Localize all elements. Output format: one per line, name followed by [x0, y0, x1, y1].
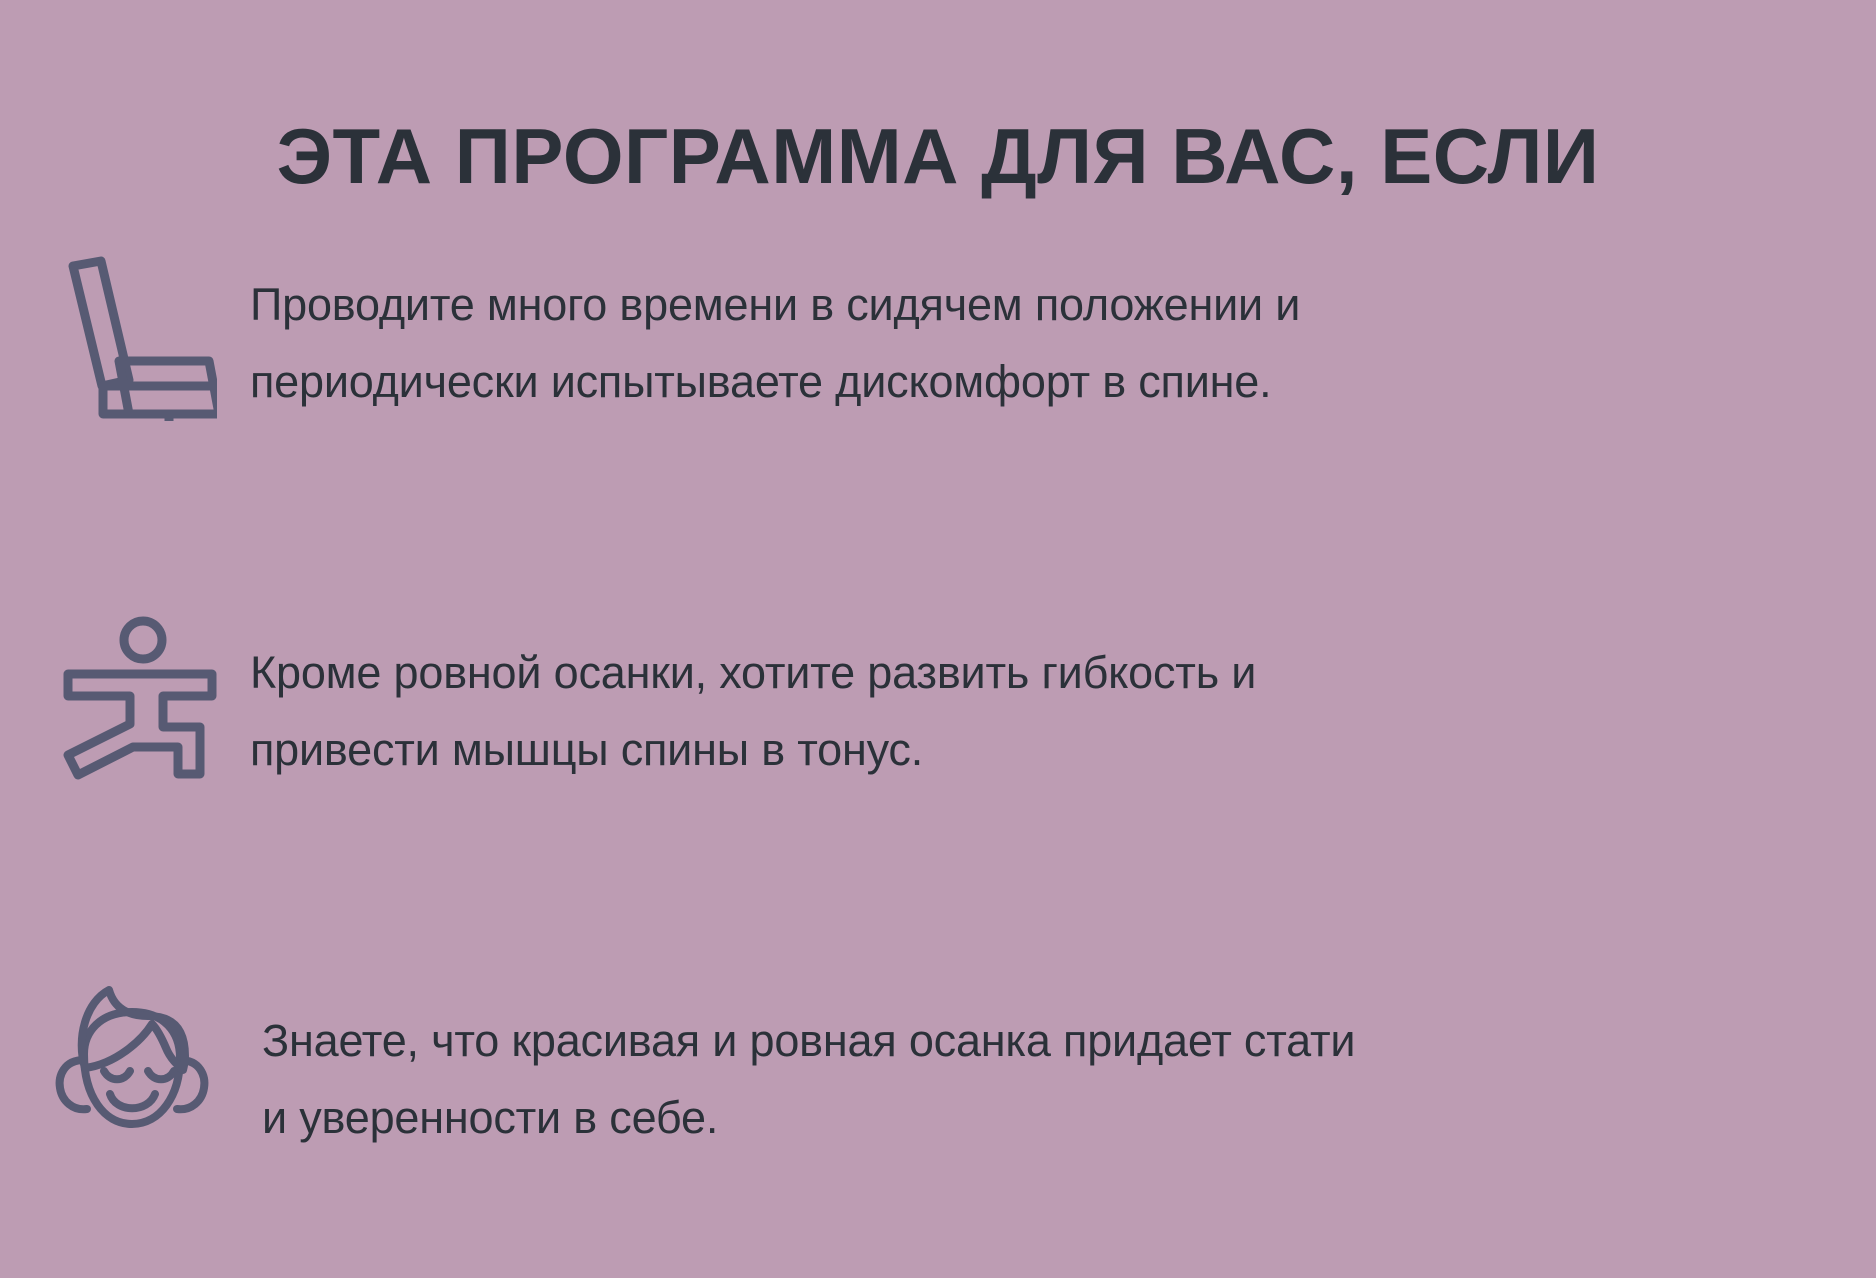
- list-item: Кроме ровной осанки, хотите развить гибк…: [0, 612, 1876, 792]
- slide-root: ЭТА ПРОГРАММА ДЛЯ ВАС, ЕСЛИ Проводите мн…: [0, 0, 1876, 1278]
- list-item-line-1: Знаете, что красивая и ровная осанка при…: [262, 1002, 1355, 1079]
- list-item-line-2: привести мышцы спины в тонус.: [250, 711, 1256, 788]
- list-item-text: Проводите много времени в сидячем положе…: [250, 246, 1300, 420]
- smiling-face-icon: [0, 972, 250, 1147]
- page-title: ЭТА ПРОГРАММА ДЛЯ ВАС, ЕСЛИ: [0, 110, 1876, 202]
- list-item-text: Знаете, что красивая и ровная осанка при…: [250, 972, 1355, 1156]
- stretching-person-icon: [0, 612, 250, 792]
- list-item: Проводите много времени в сидячем положе…: [0, 246, 1876, 421]
- list-item-line-2: периодически испытываете дискомфорт в сп…: [250, 343, 1300, 420]
- list-item-line-1: Кроме ровной осанки, хотите развить гибк…: [250, 634, 1256, 711]
- list-item: Знаете, что красивая и ровная осанка при…: [0, 972, 1876, 1156]
- list-item-line-1: Проводите много времени в сидячем положе…: [250, 266, 1300, 343]
- list-item-text: Кроме ровной осанки, хотите развить гибк…: [250, 612, 1256, 788]
- office-chair-icon: [0, 246, 250, 421]
- list-item-line-2: и уверенности в себе.: [262, 1079, 1355, 1156]
